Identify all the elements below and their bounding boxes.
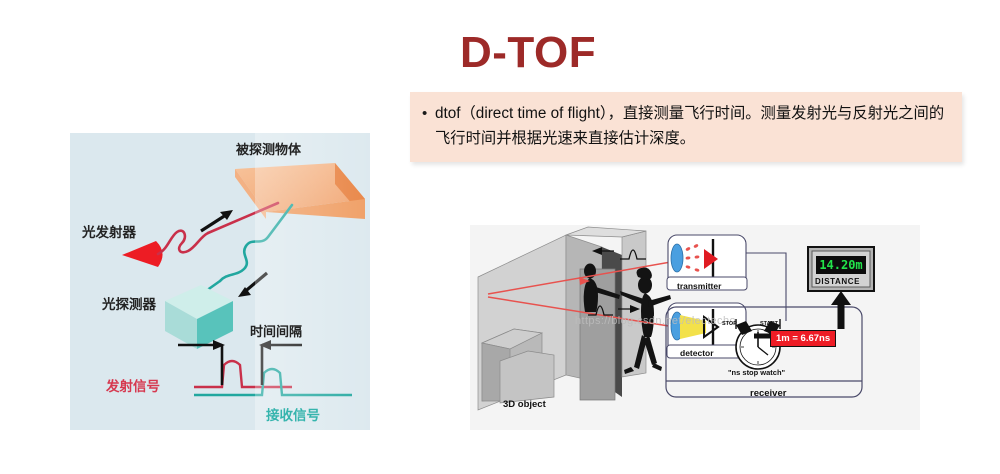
label-time-interval: 时间间隔 <box>250 321 302 340</box>
distance-readout: 14.20m <box>816 256 866 274</box>
bullet-textbox: • dtof（direct time of flight），直接测量飞行时间。测… <box>410 92 962 162</box>
label-tx-signal: 发射信号 <box>106 375 160 395</box>
label-distance: DISTANCE <box>815 277 860 286</box>
label-light-detector: 光探测器 <box>102 293 156 313</box>
label-start-button: START <box>760 321 778 327</box>
label-stop-button: STOP <box>722 321 737 327</box>
detected-object-shape <box>235 163 365 219</box>
light-emitter-shape <box>122 241 163 267</box>
label-detector: detector <box>680 348 714 358</box>
bullet-text: dtof（direct time of flight），直接测量飞行时间。测量发… <box>435 101 948 151</box>
label-transmitter: transmitter <box>677 281 721 291</box>
light-detector-shape <box>165 285 233 349</box>
left-diagram-panel: 被探测物体 光发射器 光探测器 时间间隔 发射信号 接收信号 <box>70 133 370 430</box>
label-detected-object: 被探测物体 <box>236 139 301 158</box>
label-receiver: receiver <box>750 388 786 399</box>
emitted-beam <box>158 203 278 254</box>
slide-root: D-TOF • dtof（direct time of flight），直接测量… <box>0 0 1000 474</box>
page-title: D-TOF <box>460 30 596 76</box>
label-rx-signal: 接收信号 <box>266 404 320 424</box>
incoming-arrow <box>238 273 267 297</box>
watermark-text: https://blog.csdn.net/electecho <box>575 315 736 327</box>
label-3d-object: 3D object <box>503 399 546 410</box>
signal-waveform <box>178 340 352 395</box>
label-light-emitter: 光发射器 <box>82 221 136 241</box>
bullet-marker: • <box>422 101 435 126</box>
right-diagram-panel: https://blog.csdn.net/electecho 14.20m 1… <box>470 225 920 430</box>
conversion-badge: 1m = 6.67ns <box>770 330 836 347</box>
label-stopwatch: "ns stop watch" <box>728 368 785 377</box>
